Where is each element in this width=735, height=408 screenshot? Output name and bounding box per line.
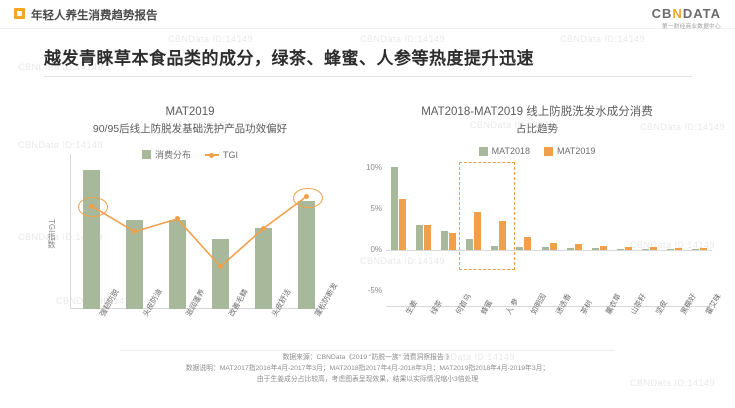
left-chart-title-line1: MAT2019 <box>40 104 340 121</box>
brand-name-n: N <box>672 6 682 21</box>
highlight-ellipse <box>78 197 108 217</box>
right-x-label: 茶树 <box>578 298 595 316</box>
report-title: 年轻人养生消费趋势报告 <box>31 7 158 23</box>
right-x-label: 生姜 <box>403 298 420 316</box>
right-bar <box>441 231 448 250</box>
right-x-label: 坚皮 <box>653 298 670 316</box>
slide-title: 越发青睐草本食品类的成分，绿茶、蜂蜜、人参等热度提升迅速 <box>44 44 534 69</box>
right-bar <box>399 199 406 250</box>
footer-source: 数据来源：CBNData《2019 "防脱一族" 消费洞察报告 》 <box>0 352 735 363</box>
watermark: CBNData ID:14149 <box>360 34 445 44</box>
right-x-label: 山茶籽 <box>628 292 649 317</box>
right-x-label: 黑椰好 <box>678 292 699 317</box>
right-bar <box>416 225 423 250</box>
left-plot-area: 强韧防脱头皮防油滋润蓬养改善毛鳞头皮舒活蓬松防断发 <box>70 154 328 309</box>
tgi-point <box>261 226 266 231</box>
right-x-label: 何首乌 <box>453 292 474 317</box>
right-y-tick: 5% <box>356 204 382 213</box>
footer-notes: 数据来源：CBNData《2019 "防脱一族" 消费洞察报告 》 数据说明：M… <box>0 352 735 385</box>
right-y-tick: 10% <box>356 163 382 172</box>
right-bar <box>391 167 398 250</box>
highlight-ellipse <box>293 188 323 208</box>
right-bar <box>516 247 523 250</box>
footer-note-1: 数据说明：MAT2017指2016年4月-2017年3月；MAT2018指201… <box>0 363 735 374</box>
left-chart-title: MAT2019 90/95后线上防脱发基础洗护产品功效偏好 <box>40 104 340 138</box>
left-chart-title-line2: 90/95后线上防脱发基础洗护产品功效偏好 <box>40 121 340 138</box>
right-bar <box>617 249 624 250</box>
brand-name-pre: CB <box>652 6 673 21</box>
watermark: CBNData ID:14149 <box>560 34 645 44</box>
right-chart-title-line1: MAT2018-MAT2019 线上防脱洗发水成分消费 <box>352 104 722 121</box>
right-bar <box>650 247 657 249</box>
logo-mark-icon <box>14 8 25 19</box>
right-x-label: 如明因 <box>528 292 549 317</box>
brand-logo: CBNDATA 第一财经商业数据中心 <box>652 6 721 30</box>
right-x-label: 绿茶 <box>428 298 445 316</box>
tgi-line <box>70 154 328 309</box>
right-bar <box>567 248 574 250</box>
right-bar <box>600 246 607 250</box>
right-y-tick: 0% <box>356 245 382 254</box>
right-bar <box>667 249 674 250</box>
right-bar <box>449 233 456 250</box>
right-y-tick: -5% <box>356 286 382 295</box>
right-bar <box>592 248 599 250</box>
right-zero-line <box>386 250 712 251</box>
page-header: 年轻人养生消费趋势报告 CBNDATA 第一财经商业数据中心 <box>0 0 735 29</box>
right-bar <box>700 248 707 250</box>
right-bar <box>642 249 649 250</box>
right-bar <box>542 247 549 249</box>
right-bar <box>625 247 632 250</box>
right-x-label: 迷迭香 <box>553 292 574 317</box>
highlight-dashed-box <box>459 162 515 270</box>
title-divider <box>44 76 692 77</box>
watermark: CBNData ID:14149 <box>168 34 253 44</box>
right-x-label: 薰衣草 <box>603 292 624 317</box>
right-bar <box>692 249 699 250</box>
right-bar <box>424 225 431 249</box>
right-chart-title: MAT2018-MAT2019 线上防脱洗发水成分消费 占比趋势 <box>352 104 722 138</box>
right-bar <box>550 243 557 250</box>
brand-name-post: DATA <box>683 6 721 21</box>
right-bar <box>575 244 582 250</box>
right-bar <box>675 248 682 250</box>
right-chart-panel: MAT2018-MAT2019 线上防脱洗发水成分消费 占比趋势 MAT2018… <box>352 104 722 344</box>
right-bar <box>524 237 531 250</box>
right-x-label: 蜂蜜 <box>478 298 495 316</box>
right-plot-area: 10%5%0%-5%生姜绿茶何首乌蜂蜜人 参如明因迷迭香茶树薰衣草山茶籽坚皮黑椰… <box>386 152 712 307</box>
right-x-label: 人 参 <box>503 296 521 316</box>
brand-name: CBNDATA <box>652 6 721 21</box>
footer-note-2: 由于生姜成分占比较高，考虑图表呈现效果，结果以实际情况缩小3倍处理 <box>0 374 735 385</box>
left-y-axis-title: TGI指数 <box>46 219 57 248</box>
right-x-label: 霍艾味 <box>703 292 724 317</box>
brand-subtitle: 第一财经商业数据中心 <box>652 22 721 30</box>
footer-divider <box>120 350 615 351</box>
left-chart-panel: MAT2019 90/95后线上防脱发基础洗护产品功效偏好 消费分布 TGI 强… <box>40 104 340 344</box>
right-chart-title-line2: 占比趋势 <box>352 121 722 138</box>
